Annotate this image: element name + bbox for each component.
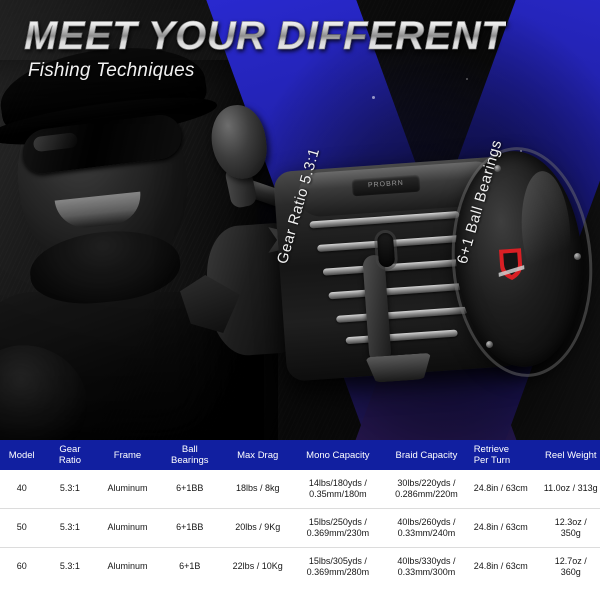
cell-braid-capacity: 40lbs/330yds / 0.33mm/300m <box>381 556 471 579</box>
column-header-model: Model <box>0 450 43 461</box>
reel-brand-text: PROBRN <box>352 179 420 191</box>
cell-mono-capacity: 15lbs/250yds / 0.369mm/230m <box>294 517 381 540</box>
cell-reel-weight: 11.0oz / 313g <box>541 483 600 495</box>
column-header-retrieve-per-turn: Retrieve Per Turn <box>472 444 542 466</box>
column-header-max-drag: Max Drag <box>221 450 295 461</box>
cell-braid-capacity: 30lbs/220yds / 0.286mm/220m <box>381 478 471 501</box>
column-header-reel-weight: Reel Weight <box>541 450 600 461</box>
cell-gear-ratio: 5.3:1 <box>43 483 96 495</box>
cell-max-drag: 18lbs / 8kg <box>221 483 295 495</box>
cell-reel-weight: 12.7oz / 360g <box>541 556 600 579</box>
frame-bar <box>328 282 472 299</box>
spool-tension-slot <box>377 232 395 267</box>
cell-ball-bearings: 6+1BB <box>159 522 221 534</box>
cell-model: 40 <box>0 483 43 495</box>
frame-bar <box>323 258 473 275</box>
cell-reel-weight: 12.3oz / 350g <box>541 517 600 540</box>
column-header-braid-capacity: Braid Capacity <box>381 450 471 461</box>
cell-retrieve-per-turn: 24.8in / 63cm <box>472 561 542 573</box>
end-cap-screw <box>486 341 493 348</box>
page-subtitle: Fishing Techniques <box>28 60 195 82</box>
cell-mono-capacity: 14lbs/180yds / 0.35mm/180m <box>294 478 381 501</box>
frame-bar <box>336 307 468 323</box>
cell-model: 50 <box>0 522 43 534</box>
table-row: 40 5.3:1 Aluminum 6+1BB 18lbs / 8kg 14lb… <box>0 470 600 509</box>
column-header-gear-ratio: Gear Ratio <box>43 444 96 466</box>
hero-section: MEET YOUR DIFFERENT Fishing Techniques P… <box>0 0 600 440</box>
brand-logo-icon <box>495 246 527 282</box>
cell-retrieve-per-turn: 24.8in / 63cm <box>472 522 542 534</box>
column-header-mono-capacity: Mono Capacity <box>294 450 381 461</box>
frame-bar <box>309 211 459 228</box>
cell-ball-bearings: 6+1BB <box>159 483 221 495</box>
column-header-frame: Frame <box>96 450 158 461</box>
table-row: 50 5.3:1 Aluminum 6+1BB 20lbs / 9Kg 15lb… <box>0 509 600 548</box>
cell-frame: Aluminum <box>96 561 158 573</box>
reel-handle-knob <box>207 102 271 183</box>
cell-max-drag: 22lbs / 10Kg <box>221 561 295 573</box>
cell-max-drag: 20lbs / 9Kg <box>221 522 295 534</box>
thumb-bar <box>365 353 433 384</box>
frame-bar <box>317 234 473 252</box>
cell-model: 60 <box>0 561 43 573</box>
cell-ball-bearings: 6+1B <box>159 561 221 573</box>
table-row: 60 5.3:1 Aluminum 6+1B 22lbs / 10Kg 15lb… <box>0 548 600 586</box>
specification-table: Model Gear Ratio Frame Ball Bearings Max… <box>0 440 600 600</box>
cell-braid-capacity: 40lbs/260yds / 0.33mm/240m <box>381 517 471 540</box>
product-banner: MEET YOUR DIFFERENT Fishing Techniques P… <box>0 0 600 600</box>
cell-gear-ratio: 5.3:1 <box>43 522 96 534</box>
end-cap-screw <box>574 253 581 260</box>
cell-gear-ratio: 5.3:1 <box>43 561 96 573</box>
fishing-reel-image: PROBRN Gea <box>170 105 590 405</box>
spark-particle <box>372 96 375 99</box>
cell-frame: Aluminum <box>96 522 158 534</box>
column-header-ball-bearings: Ball Bearings <box>159 444 221 466</box>
cell-mono-capacity: 15lbs/305yds / 0.369mm/280m <box>294 556 381 579</box>
frame-bar <box>346 329 458 344</box>
page-title: MEET YOUR DIFFERENT <box>24 16 506 56</box>
cell-frame: Aluminum <box>96 483 158 495</box>
cell-retrieve-per-turn: 24.8in / 63cm <box>472 483 542 495</box>
spark-particle <box>466 78 468 80</box>
table-header-row: Model Gear Ratio Frame Ball Bearings Max… <box>0 440 600 470</box>
